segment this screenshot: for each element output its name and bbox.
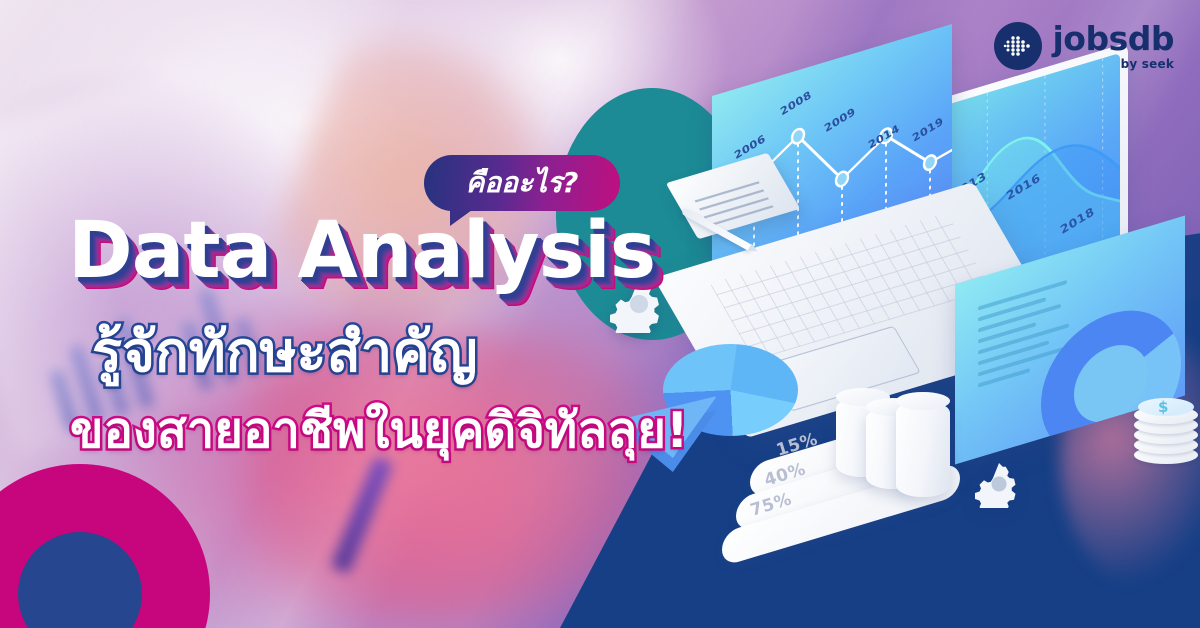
coin-stack: $ — [1134, 400, 1200, 470]
question-bubble: คืออะไร? — [424, 155, 620, 211]
page-title: Data Analysis — [68, 212, 655, 290]
cylinder-bar-3 — [896, 401, 950, 497]
jobsdb-wordmark: jobsdb — [1053, 22, 1175, 55]
jobsdb-tagline: by seek — [1121, 58, 1174, 70]
subtitle-line-2: ของสายอาชีพในยุคดิจิทัลลุย! — [70, 404, 688, 459]
isometric-illustration: 2010 2013 2016 2018 — [620, 0, 1200, 628]
jobsdb-wordmark-block: jobsdb by seek — [1053, 22, 1175, 70]
jobsdb-arrow-icon — [994, 22, 1042, 70]
question-bubble-text: คืออะไร? — [466, 169, 579, 197]
gear-icon-right — [975, 460, 1023, 508]
banner-root: 2010 2013 2016 2018 — [0, 0, 1200, 628]
subtitle-line-1: รู้จักทักษะสำคัญ — [92, 322, 477, 385]
percentage-bar-group: 15% 40% 75% — [750, 385, 1000, 550]
jobsdb-logo[interactable]: jobsdb by seek — [994, 22, 1175, 70]
dollar-icon: $ — [1158, 398, 1168, 416]
